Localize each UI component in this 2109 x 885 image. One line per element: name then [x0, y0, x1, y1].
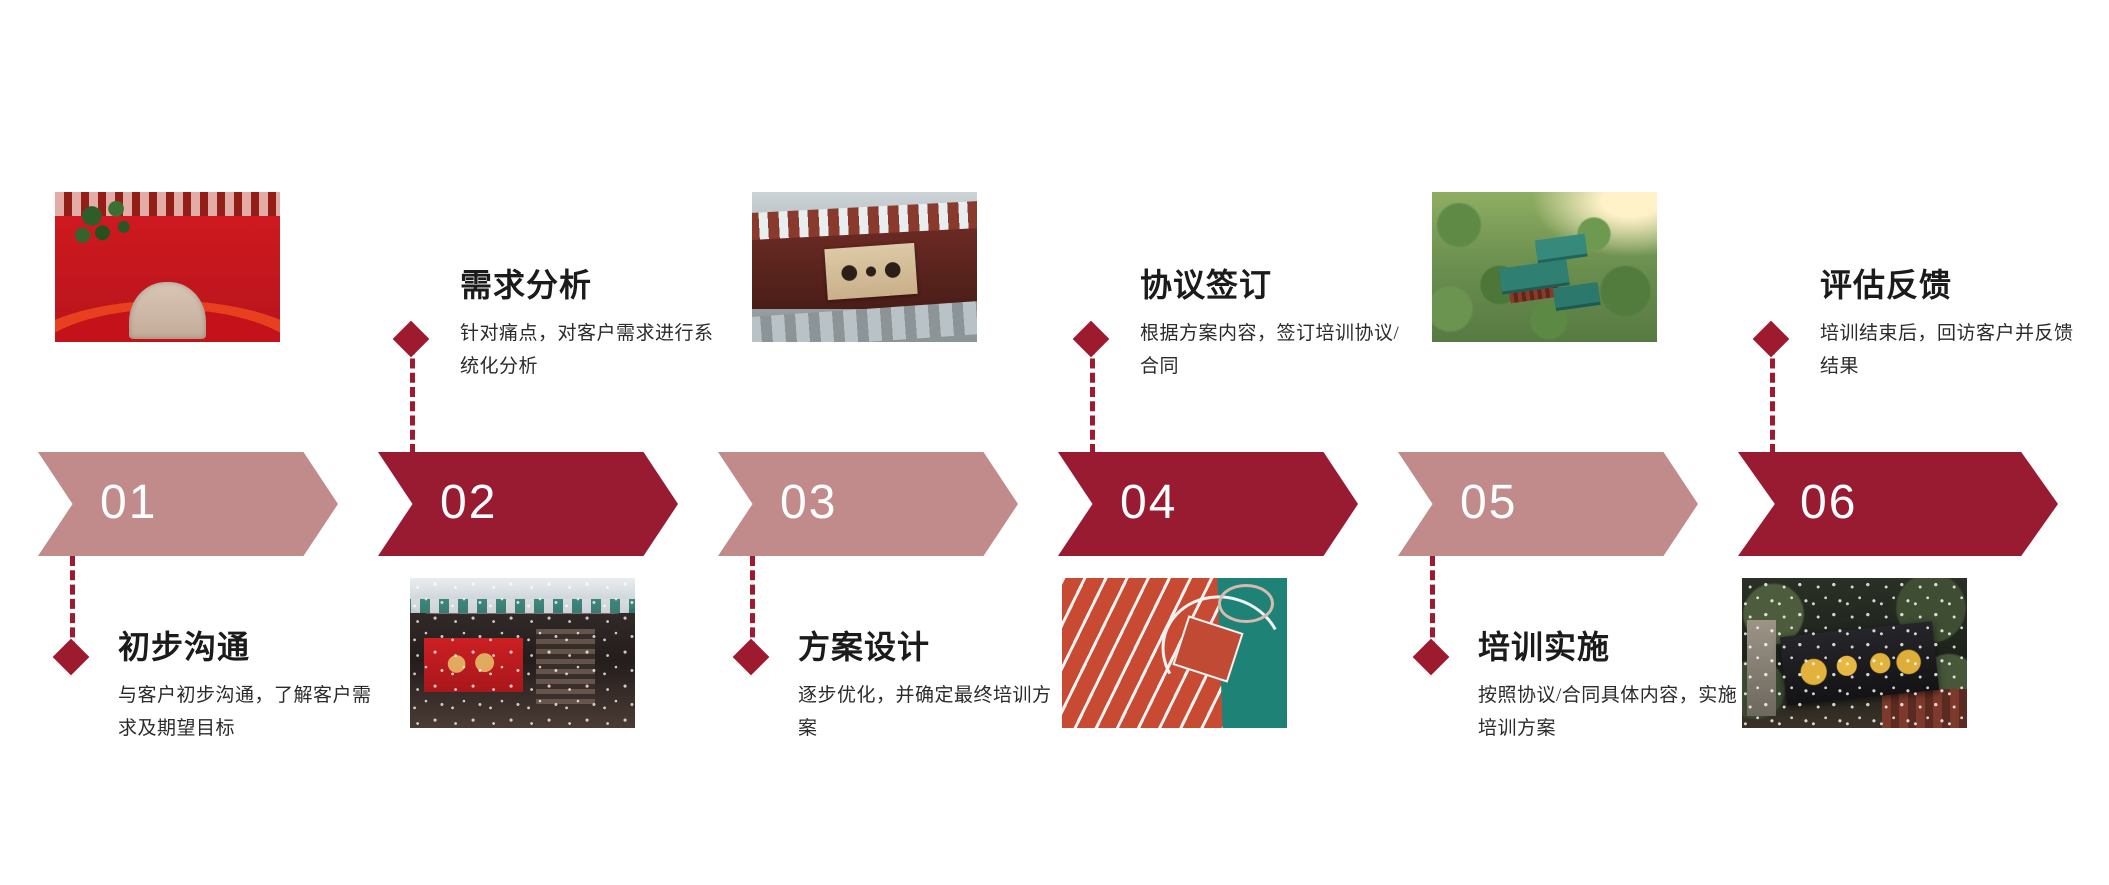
sports-field-illustration	[1062, 578, 1287, 728]
step-image-3	[752, 192, 977, 342]
step-title-4: 协议签订	[1140, 268, 1400, 303]
step-title-1: 初步沟通	[118, 630, 378, 665]
step-text-2: 需求分析 针对痛点，对客户需求进行系统化分析	[460, 268, 720, 384]
step-desc-5: 按照协议/合同具体内容，实施培训方案	[1478, 679, 1738, 746]
diamond-marker-1	[53, 639, 90, 676]
step-number-3: 03	[780, 479, 837, 527]
connector-2	[410, 330, 412, 454]
step-title-6: 评估反馈	[1820, 268, 2080, 303]
step-title-2: 需求分析	[460, 268, 720, 303]
step-desc-6: 培训结束后，回访客户并反馈结果	[1820, 317, 2080, 384]
diamond-marker-6	[1753, 321, 1790, 358]
aerial-campus-illustration	[1432, 192, 1657, 342]
foliage-detail	[69, 198, 146, 258]
step-image-4	[1062, 578, 1287, 728]
connector-6	[1770, 330, 1772, 454]
process-chevron-band: 01 02 03 04 05 06	[0, 452, 2109, 556]
chevron-step-4[interactable]: 04	[1058, 452, 1358, 556]
step-image-5	[1432, 192, 1657, 342]
step-desc-2: 针对痛点，对客户需求进行系统化分析	[460, 317, 720, 384]
connector-1	[70, 556, 72, 666]
step-image-2	[410, 578, 635, 728]
process-timeline-infographic: 需求分析 针对痛点，对客户需求进行系统化分析 协议签订 根据方案内容，签订培训协…	[0, 0, 2109, 885]
step-number-4: 04	[1120, 479, 1177, 527]
step-title-5: 培训实施	[1478, 630, 1738, 665]
center-circle-detail	[1218, 584, 1274, 623]
step-desc-1: 与客户初步沟通，了解客户需求及期望目标	[118, 679, 378, 746]
snowy-gate-illustration	[410, 578, 635, 728]
step-text-5: 培训实施 按照协议/合同具体内容，实施培训方案	[1478, 630, 1738, 746]
connector-5	[1430, 556, 1432, 666]
chevron-step-6[interactable]: 06	[1738, 452, 2058, 556]
stone-gate-illustration	[1742, 578, 1967, 728]
step-number-5: 05	[1460, 479, 1517, 527]
step-number-6: 06	[1800, 479, 1857, 527]
step-text-3: 方案设计 逐步优化，并确定最终培训方案	[798, 630, 1058, 746]
diamond-marker-5	[1413, 639, 1450, 676]
stone-plaque-detail	[129, 282, 206, 339]
step-desc-4: 根据方案内容，签订培训协议/合同	[1140, 317, 1400, 384]
connector-4	[1090, 330, 1092, 454]
wooden-plaque-detail	[825, 243, 918, 300]
step-desc-3: 逐步优化，并确定最终培训方案	[798, 679, 1058, 746]
chevron-step-2[interactable]: 02	[378, 452, 678, 556]
snowfall-detail-6	[1742, 578, 1967, 728]
connector-3	[750, 556, 752, 666]
temple-arch-illustration	[55, 192, 280, 342]
step-title-3: 方案设计	[798, 630, 1058, 665]
step-image-1	[55, 192, 280, 342]
diamond-marker-4	[1073, 321, 1110, 358]
diamond-marker-3	[733, 639, 770, 676]
step-text-1: 初步沟通 与客户初步沟通，了解客户需求及期望目标	[118, 630, 378, 746]
step-number-2: 02	[440, 479, 497, 527]
step-text-6: 评估反馈 培训结束后，回访客户并反馈结果	[1820, 268, 2080, 384]
diamond-marker-2	[393, 321, 430, 358]
snowfall-detail	[410, 578, 635, 728]
chevron-step-3[interactable]: 03	[718, 452, 1018, 556]
snowy-roof-illustration	[752, 192, 977, 342]
chevron-step-1[interactable]: 01	[38, 452, 338, 556]
chevron-step-5[interactable]: 05	[1398, 452, 1698, 556]
step-number-1: 01	[100, 479, 157, 527]
step-image-6	[1742, 578, 1967, 728]
step-text-4: 协议签订 根据方案内容，签订培训协议/合同	[1140, 268, 1400, 384]
